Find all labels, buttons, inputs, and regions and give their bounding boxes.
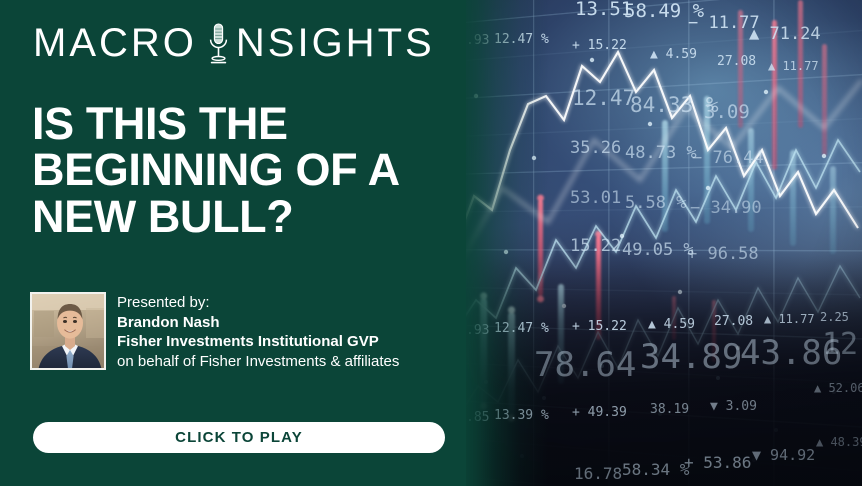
click-to-play-button[interactable]: CLICK TO PLAY <box>33 422 445 453</box>
stock-chart-artwork: .9312.47 %+ 15.22▲ 4.5927.08▲ 11.7713.51… <box>462 0 862 486</box>
page-title: IS THIS THE BEGINNING OF A NEW BULL? <box>32 101 452 240</box>
artwork-green-edge-fade <box>462 0 862 486</box>
green-content-panel: MACRO NSIGHTS IS THIS THE BEGINNING OF A <box>0 0 466 486</box>
headline-line-3: NEW BULL? <box>32 194 452 240</box>
microphone-icon <box>206 22 231 66</box>
presenter-disclaimer: on behalf of Fisher Investments & affili… <box>117 352 399 372</box>
click-to-play-label: CLICK TO PLAY <box>175 429 303 446</box>
presenter-block: Presented by: Brandon Nash Fisher Invest… <box>30 292 399 372</box>
avatar <box>30 292 106 370</box>
presenter-text: Presented by: Brandon Nash Fisher Invest… <box>117 292 399 372</box>
presented-by-label: Presented by: <box>117 293 399 313</box>
headline-line-2: BEGINNING OF A <box>32 147 452 193</box>
logo-word-macro: MACRO <box>33 23 197 63</box>
presenter-name: Brandon Nash <box>117 313 399 333</box>
macro-insights-logo: MACRO NSIGHTS <box>33 20 435 66</box>
presenter-title: Fisher Investments Institutional GVP <box>117 332 399 352</box>
logo-word-insights: NSIGHTS <box>236 23 435 63</box>
video-thumbnail-card: .9312.47 %+ 15.22▲ 4.5927.08▲ 11.7713.51… <box>0 0 862 486</box>
headline-line-1: IS THIS THE <box>32 101 452 147</box>
